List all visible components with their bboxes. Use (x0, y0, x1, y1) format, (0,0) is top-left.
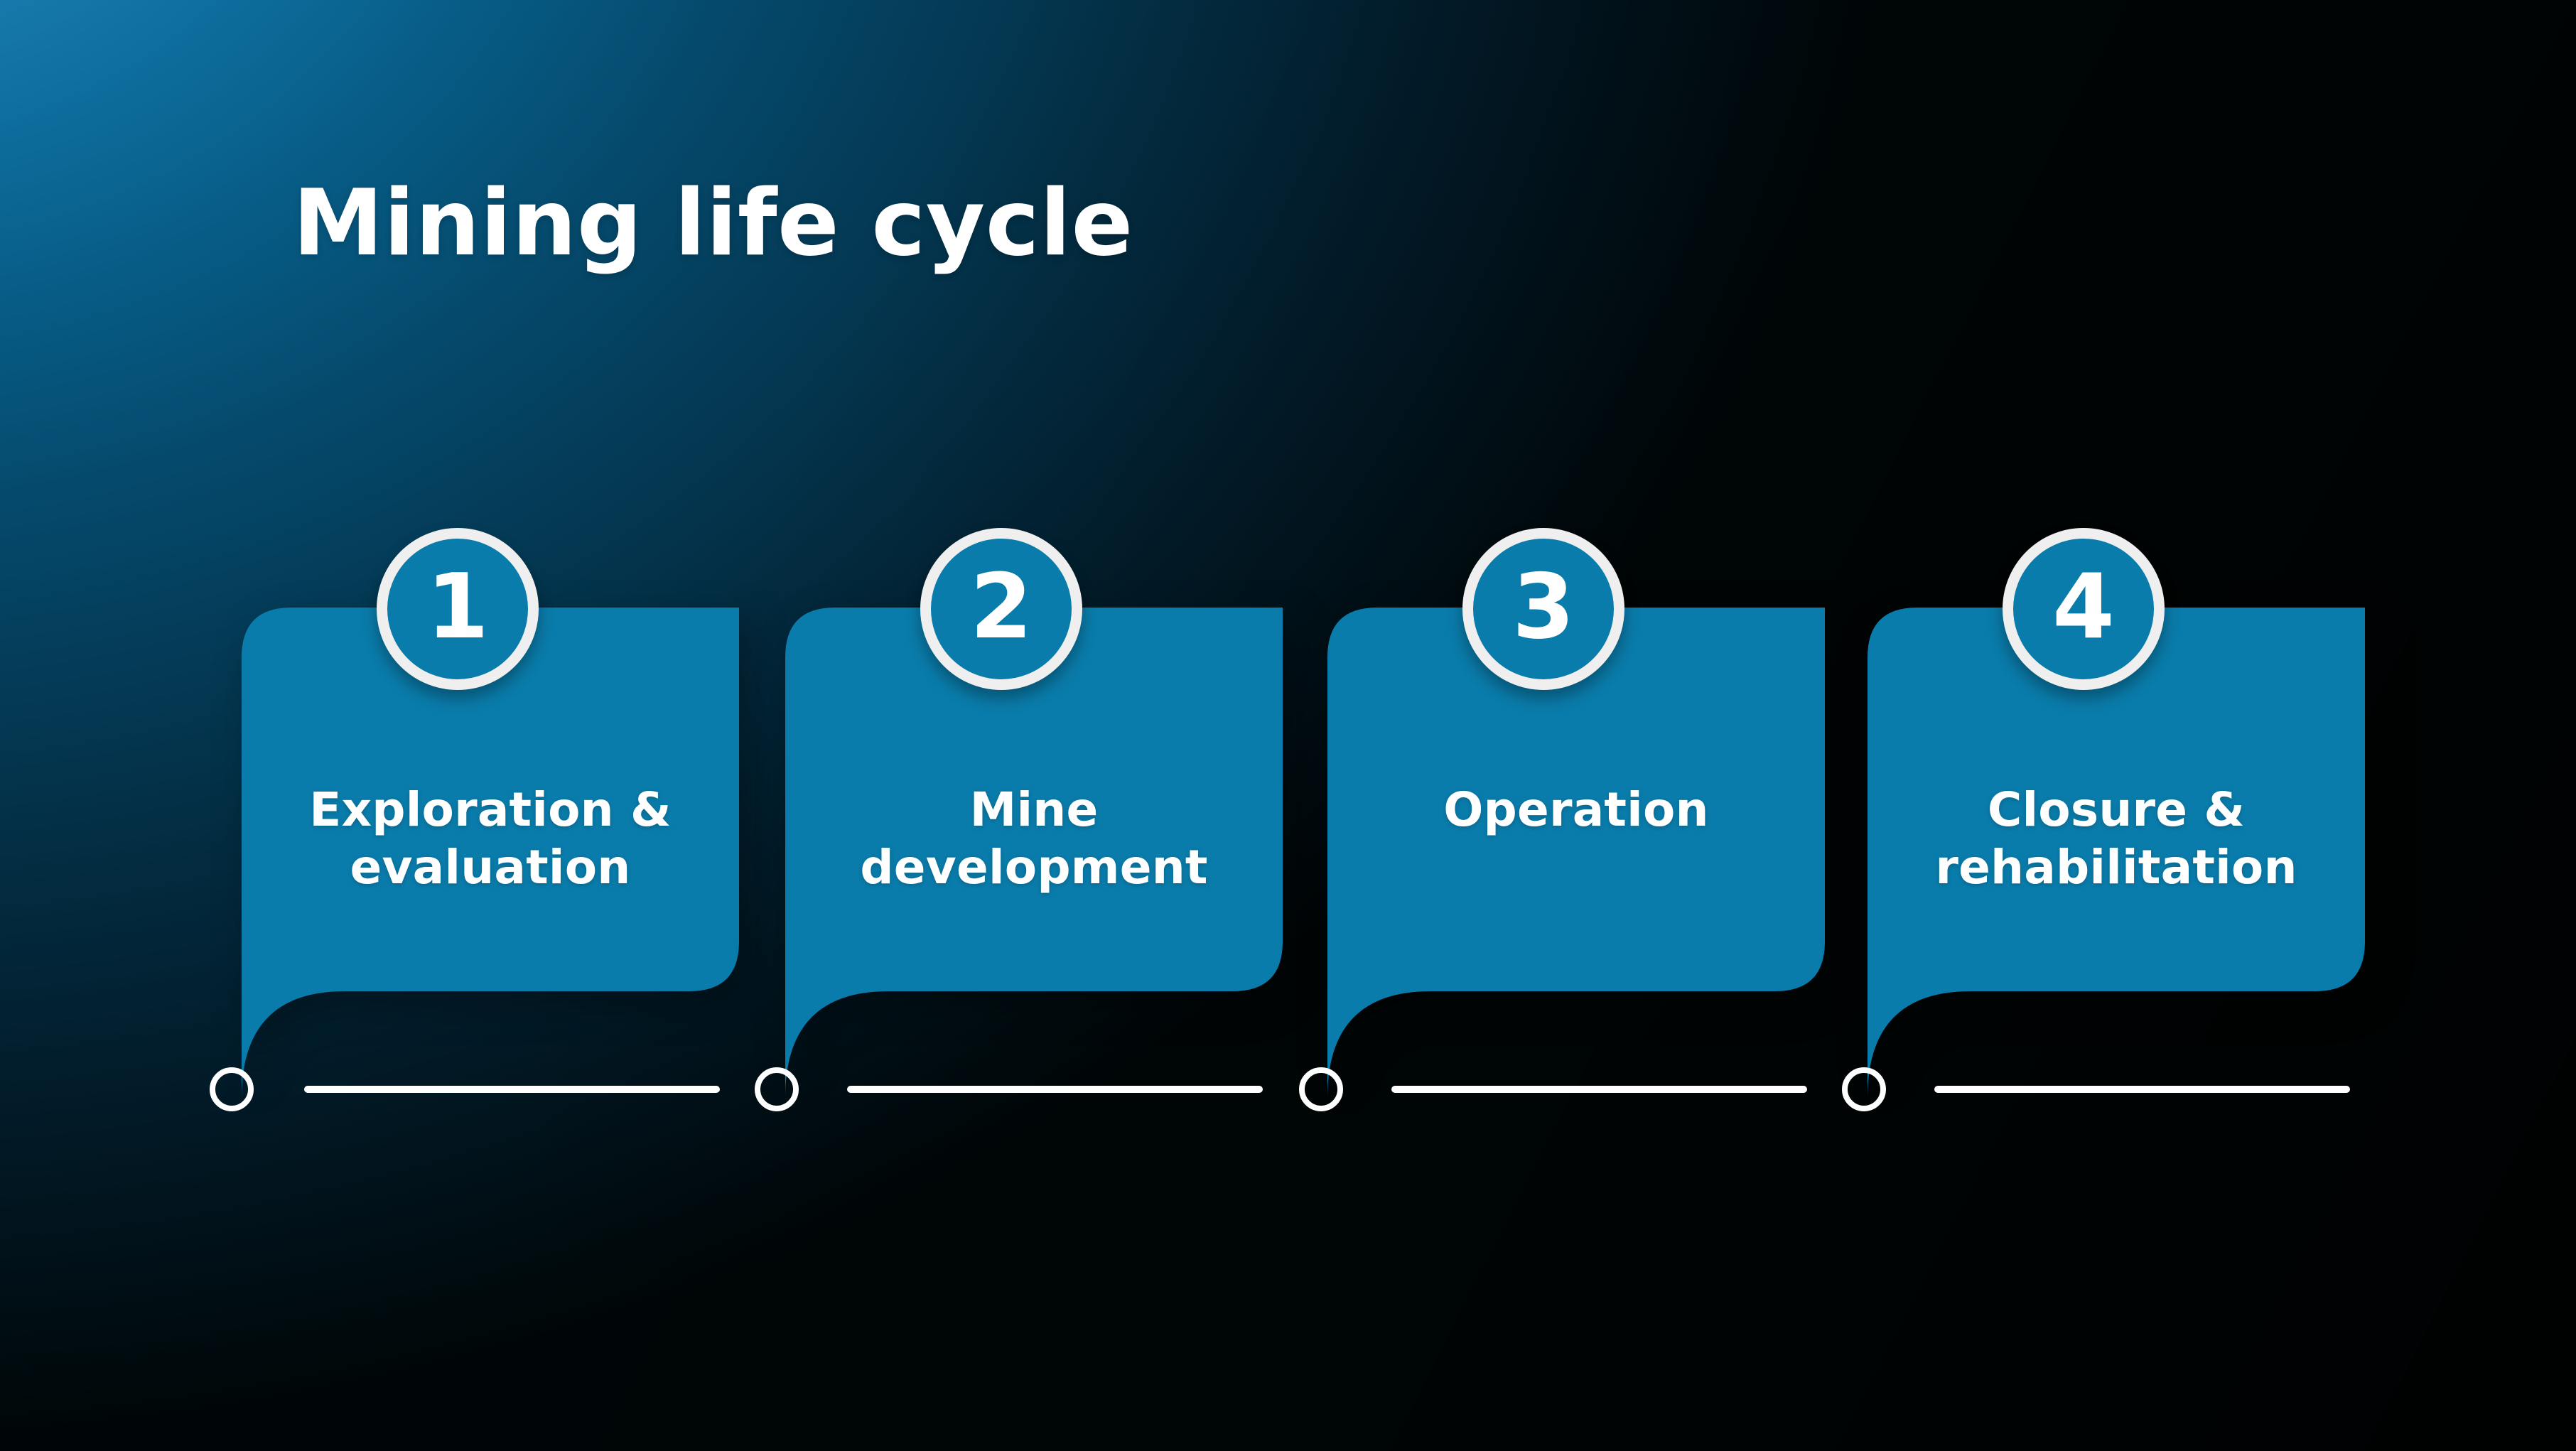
infographic-canvas: Mining life cycle 1 Exploration & evalua… (0, 0, 2576, 1451)
step-card-3[interactable]: 3 Operation (1327, 608, 1825, 1027)
step-label-1-line1: Exploration & (266, 782, 715, 839)
step-label-4-line2: rehabilitation (1892, 839, 2341, 897)
timeline-marker-3[interactable] (1299, 1067, 1343, 1111)
timeline (0, 1067, 2576, 1153)
step-label-4-line1: Closure & (1892, 782, 2341, 839)
step-number-badge-2: 2 (920, 528, 1082, 690)
timeline-connector-3 (1391, 1086, 1807, 1093)
step-number-1: 1 (426, 562, 489, 652)
timeline-marker-1[interactable] (210, 1067, 254, 1111)
timeline-marker-4[interactable] (1842, 1067, 1886, 1111)
step-number-4: 4 (2052, 562, 2115, 652)
step-label-3-line1: Operation (1352, 782, 1801, 839)
step-label-1-line2: evaluation (266, 839, 715, 897)
page-title: Mining life cycle (293, 178, 1133, 271)
step-number-2: 2 (970, 562, 1033, 652)
step-label-4: Closure & rehabilitation (1868, 782, 2365, 896)
step-card-2[interactable]: 2 Mine development (785, 608, 1283, 1027)
step-label-1: Exploration & evaluation (242, 782, 739, 896)
step-number-badge-4: 4 (2003, 528, 2165, 690)
step-number-3: 3 (1512, 562, 1575, 652)
step-card-1[interactable]: 1 Exploration & evaluation (242, 608, 739, 1027)
timeline-connector-4 (1934, 1086, 2350, 1093)
timeline-connector-1 (304, 1086, 720, 1093)
step-number-badge-3: 3 (1462, 528, 1624, 690)
step-card-4[interactable]: 4 Closure & rehabilitation (1868, 608, 2365, 1027)
step-label-2-line1: Mine (809, 782, 1259, 839)
timeline-connector-2 (847, 1086, 1263, 1093)
step-label-2: Mine development (785, 782, 1283, 896)
timeline-marker-2[interactable] (755, 1067, 799, 1111)
step-label-3: Operation (1327, 782, 1825, 839)
step-label-2-line2: development (809, 839, 1259, 897)
step-number-badge-1: 1 (377, 528, 539, 690)
